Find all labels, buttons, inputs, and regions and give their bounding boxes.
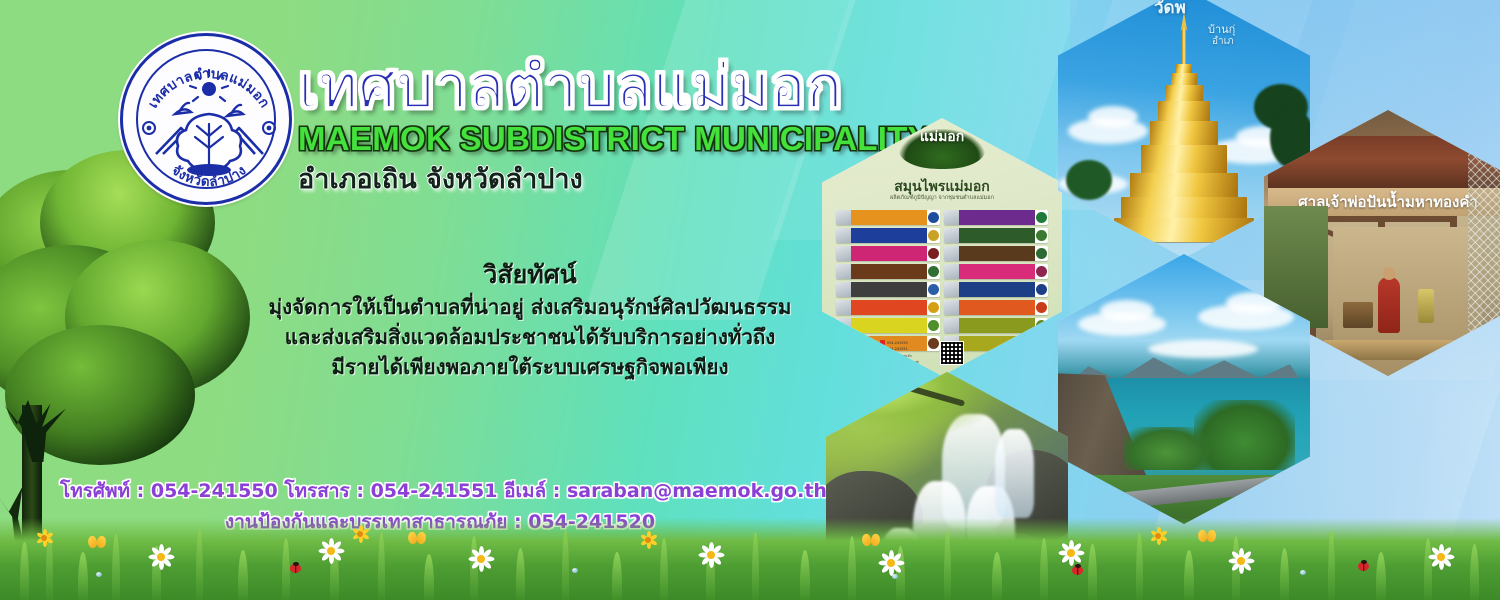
poster-contact-chips: 054-241550 054-241551 maemok.go.th sarab… bbox=[880, 340, 919, 366]
yellow-flower-icon bbox=[352, 526, 368, 542]
ladybug-icon bbox=[1358, 562, 1369, 571]
contact-line-phone-fax-email: โทรศัพท์ : 054-241550 โทรสาร : 054-24155… bbox=[60, 476, 820, 507]
municipality-banner: เทศบาลตำบลแม่มอก จังหวัดลำปาง เทศบาลตำบล… bbox=[0, 0, 1500, 600]
daisy-flower-icon bbox=[470, 548, 492, 570]
bird-icon bbox=[227, 105, 243, 116]
dew-drop-icon bbox=[96, 572, 102, 577]
daisy-flower-icon bbox=[150, 546, 172, 568]
butterfly-icon bbox=[88, 536, 106, 550]
butterfly-icon bbox=[408, 532, 426, 546]
daisy-flower-icon bbox=[1230, 550, 1252, 572]
daisy-flower-icon bbox=[320, 540, 342, 562]
product-grid bbox=[836, 210, 1048, 336]
daisy-flower-icon bbox=[700, 544, 722, 566]
pagoda-overlay-title: วัดพ bbox=[1154, 0, 1186, 21]
guardian-statue bbox=[1378, 277, 1400, 333]
dew-drop-icon bbox=[892, 574, 898, 579]
vision-line-2: และส่งเสริมสิ่งแวดล้อมประชาชนได้รับบริกา… bbox=[230, 322, 830, 352]
poster-subtitle: ผลิตภัณฑ์ภูมิปัญญา จากชุมชนตำบลแม่มอก bbox=[822, 194, 1062, 202]
vision-line-1: มุ่งจัดการให้เป็นตำบลที่น่าอยู่ ส่งเสริม… bbox=[230, 292, 830, 322]
yellow-flower-icon bbox=[640, 532, 656, 548]
ladybug-icon bbox=[290, 564, 301, 573]
daisy-flower-icon bbox=[880, 552, 902, 574]
grass-decoration-strip bbox=[0, 518, 1500, 600]
daisy-flower-icon bbox=[1060, 542, 1082, 564]
shrine-altar bbox=[1324, 340, 1478, 360]
qr-code-icon bbox=[940, 341, 964, 365]
page-title-thai: เทศบาลตำบลแม่มอก bbox=[298, 57, 918, 118]
butterfly-icon bbox=[1198, 530, 1216, 544]
dew-drop-icon bbox=[1300, 570, 1306, 575]
yellow-flower-icon bbox=[1150, 528, 1166, 544]
vision-heading: วิสัยทัศน์ bbox=[230, 258, 830, 292]
vision-statement: วิสัยทัศน์ มุ่งจัดการให้เป็นตำบลที่น่าอย… bbox=[230, 258, 830, 383]
shrine-mesh-screen bbox=[1468, 138, 1500, 346]
daisy-flower-icon bbox=[1430, 546, 1452, 568]
butterfly-icon bbox=[862, 534, 880, 548]
bird-icon bbox=[175, 103, 191, 114]
header-text-block: เทศบาลตำบลแม่มอก MAEMOK SUBDISTRICT MUNI… bbox=[298, 57, 918, 196]
yellow-flower-icon bbox=[36, 530, 52, 546]
pagoda-overlay-sub2: อำเภ bbox=[1212, 34, 1234, 49]
page-title-english: MAEMOK SUBDISTRICT MUNICIPALITY bbox=[298, 121, 918, 157]
sun-icon bbox=[202, 82, 216, 96]
vision-line-3: มีรายได้เพียงพอภายใต้ระบบเศรษฐกิจพอเพียง bbox=[230, 352, 830, 382]
ladybug-icon bbox=[1072, 566, 1083, 575]
dew-drop-icon bbox=[572, 568, 578, 573]
seal-artwork: เทศบาลตำบลแม่มอก จังหวัดลำปาง bbox=[123, 36, 295, 208]
municipality-seal-logo: เทศบาลตำบลแม่มอก จังหวัดลำปาง bbox=[120, 33, 292, 205]
tree-icon bbox=[177, 114, 241, 176]
